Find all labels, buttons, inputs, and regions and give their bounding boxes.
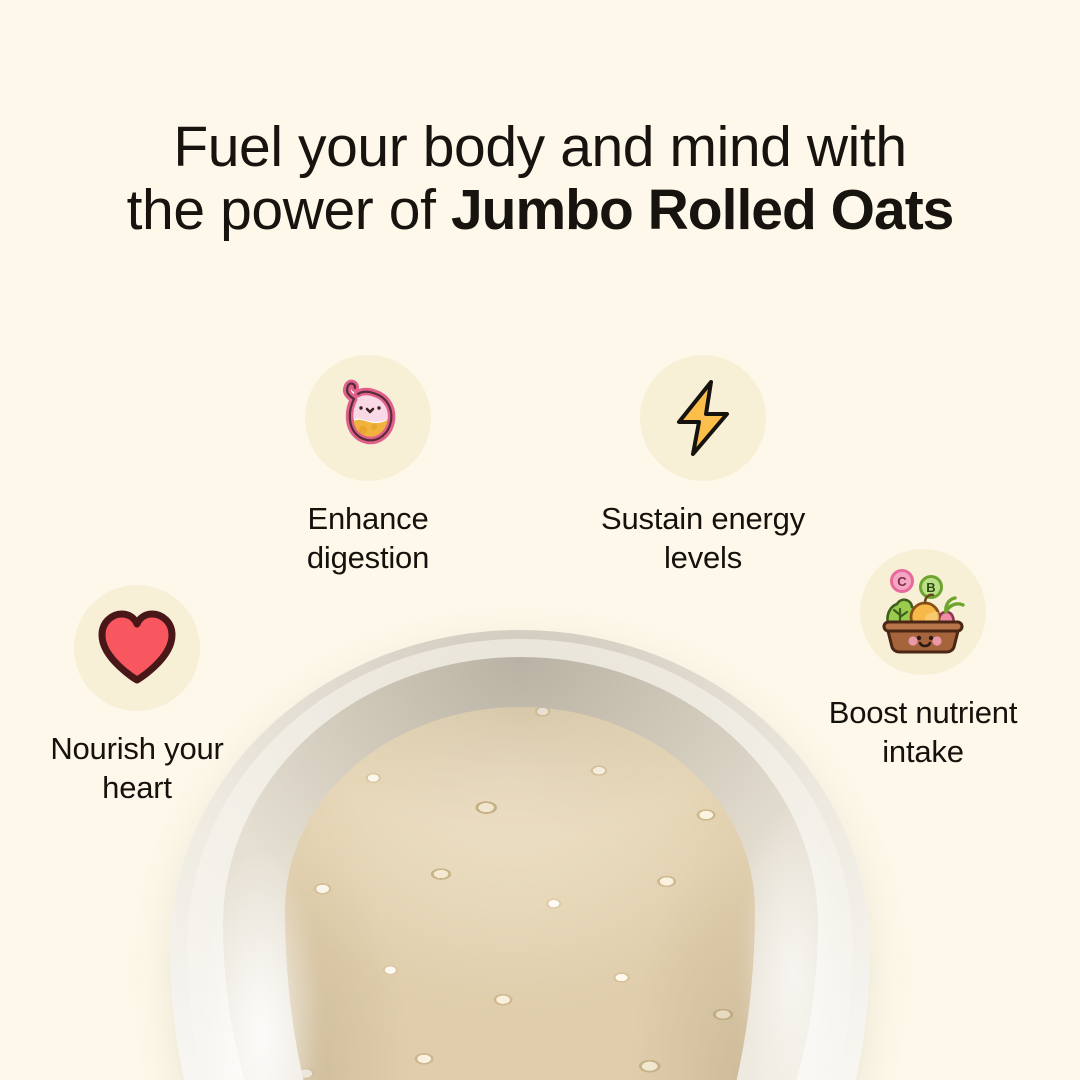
page-title: Fuel your body and mind with the power o…	[0, 118, 1080, 240]
promo-graphic: Fuel your body and mind with the power o…	[0, 0, 1080, 1080]
bowl-of-oats-image	[170, 630, 870, 1080]
feature-icon-circle	[305, 355, 431, 481]
svg-text:B: B	[926, 580, 935, 595]
headline-line-2-prefix: the power of	[127, 178, 451, 242]
vitamin-c-badge: C	[892, 571, 913, 592]
feature-label: Nourish your heart	[14, 729, 260, 807]
rolled-oats-flakes	[285, 707, 755, 1080]
feature-icon-circle	[640, 355, 766, 481]
feature-label: Sustain energy levels	[567, 499, 839, 577]
bowl-exterior	[170, 630, 870, 1080]
fruit-basket-icon: C B	[875, 569, 971, 655]
feature-enhance-digestion: Enhance digestion	[245, 355, 491, 577]
feature-icon-circle: C B	[860, 549, 986, 675]
heart-icon	[94, 609, 180, 687]
headline-product-name: Jumbo Rolled Oats	[451, 178, 953, 242]
svg-text:C: C	[897, 574, 907, 589]
feature-sustain-energy: Sustain energy levels	[567, 355, 839, 577]
headline-line-2: the power of Jumbo Rolled Oats	[0, 181, 1080, 240]
feature-label: Boost nutrient intake	[800, 693, 1046, 771]
headline-line-1: Fuel your body and mind with	[0, 118, 1080, 177]
stomach-icon	[329, 378, 407, 458]
feature-label: Enhance digestion	[245, 499, 491, 577]
lightning-bolt-icon	[667, 378, 739, 458]
